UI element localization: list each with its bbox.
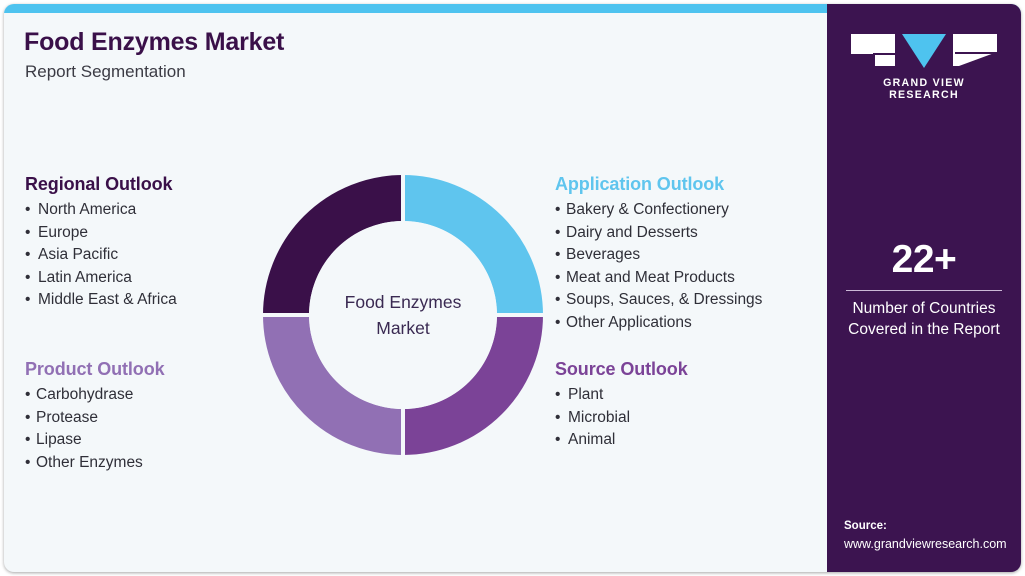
- sidebar: GRAND VIEW RESEARCH 22+ Number of Countr…: [827, 4, 1021, 572]
- list-item: Other Applications: [555, 312, 762, 335]
- page-subtitle: Report Segmentation: [25, 62, 186, 82]
- source-outlook-block: Source Outlook Plant Microbial Animal: [555, 359, 688, 452]
- list-item: Bakery & Confectionery: [555, 199, 762, 222]
- source-outlook-list: Plant Microbial Animal: [555, 384, 688, 452]
- stat-caption-line2: Covered in the Report: [827, 319, 1021, 340]
- list-item: Carbohydrase: [25, 384, 165, 407]
- page-title: Food Enzymes Market: [24, 28, 284, 57]
- regional-outlook-block: Regional Outlook North America Europe As…: [25, 174, 177, 312]
- regional-outlook-title: Regional Outlook: [25, 174, 177, 195]
- donut-chart-svg: [262, 174, 544, 456]
- list-item: Animal: [555, 429, 688, 452]
- application-outlook-list: Bakery & Confectionery Dairy and Dessert…: [555, 199, 762, 335]
- application-outlook-block: Application Outlook Bakery & Confectione…: [555, 174, 762, 335]
- list-item: Meat and Meat Products: [555, 267, 762, 290]
- list-item: Europe: [25, 222, 177, 245]
- source-outlook-title: Source Outlook: [555, 359, 688, 380]
- brand-logo-text: GRAND VIEW RESEARCH: [851, 77, 997, 101]
- source-label: Source:: [844, 518, 1021, 535]
- list-item: Middle East & Africa: [25, 289, 177, 312]
- list-item: Soups, Sauces, & Dressings: [555, 289, 762, 312]
- list-item: Plant: [555, 384, 688, 407]
- list-item: Other Enzymes: [25, 452, 165, 475]
- stat-caption-line1: Number of Countries: [827, 298, 1021, 319]
- product-outlook-list: Carbohydrase Protease Lipase Other Enzym…: [25, 384, 165, 474]
- regional-outlook-list: North America Europe Asia Pacific Latin …: [25, 199, 177, 312]
- application-outlook-title: Application Outlook: [555, 174, 762, 195]
- product-outlook-block: Product Outlook Carbohydrase Protease Li…: [25, 359, 165, 474]
- source-url[interactable]: www.grandviewresearch.com: [844, 535, 1021, 553]
- donut-chart: Food Enzymes Market: [262, 174, 544, 456]
- product-outlook-title: Product Outlook: [25, 359, 165, 380]
- stat-divider: [846, 290, 1002, 291]
- brand-logo: GRAND VIEW RESEARCH: [851, 32, 997, 101]
- list-item: Beverages: [555, 244, 762, 267]
- list-item: Lipase: [25, 429, 165, 452]
- list-item: Microbial: [555, 407, 688, 430]
- list-item: North America: [25, 199, 177, 222]
- stat-number: 22+: [827, 238, 1021, 282]
- list-item: Latin America: [25, 267, 177, 290]
- stat-block: 22+ Number of Countries Covered in the R…: [827, 238, 1021, 340]
- list-item: Asia Pacific: [25, 244, 177, 267]
- gvr-logo-icon: [851, 32, 997, 70]
- list-item: Protease: [25, 407, 165, 430]
- infographic-card: Food Enzymes Market Report Segmentation …: [4, 4, 1021, 572]
- source-block: Source: www.grandviewresearch.com: [844, 518, 1021, 553]
- list-item: Dairy and Desserts: [555, 222, 762, 245]
